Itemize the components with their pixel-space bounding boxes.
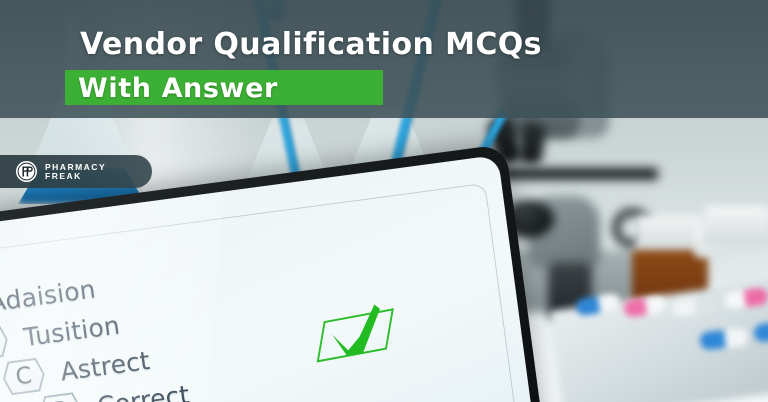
monogram-glyph — [16, 161, 37, 182]
brand-badge[interactable]: PHARMACY FREAK — [0, 155, 152, 188]
header-overlay: Vendor Qualification MCQs With Answer — [0, 0, 768, 118]
pharmacy-freak-monogram-icon — [16, 161, 37, 182]
option-label: Astrect — [59, 345, 152, 386]
option-letter-badge: B — [0, 322, 10, 361]
option-letter-badge: D — [38, 391, 84, 402]
option-label: Tusition — [22, 310, 122, 352]
page-title: Vendor Qualification MCQs — [80, 27, 542, 62]
option-label: Correct — [95, 379, 191, 402]
brand-name: PHARMACY FREAK — [45, 163, 106, 181]
brand-name-line2: FREAK — [45, 172, 106, 181]
page-subtitle: With Answer — [78, 73, 278, 104]
promo-banner: A Adaision B Tusition C Astrect — [0, 0, 768, 402]
option-letter-badge: C — [1, 357, 47, 396]
